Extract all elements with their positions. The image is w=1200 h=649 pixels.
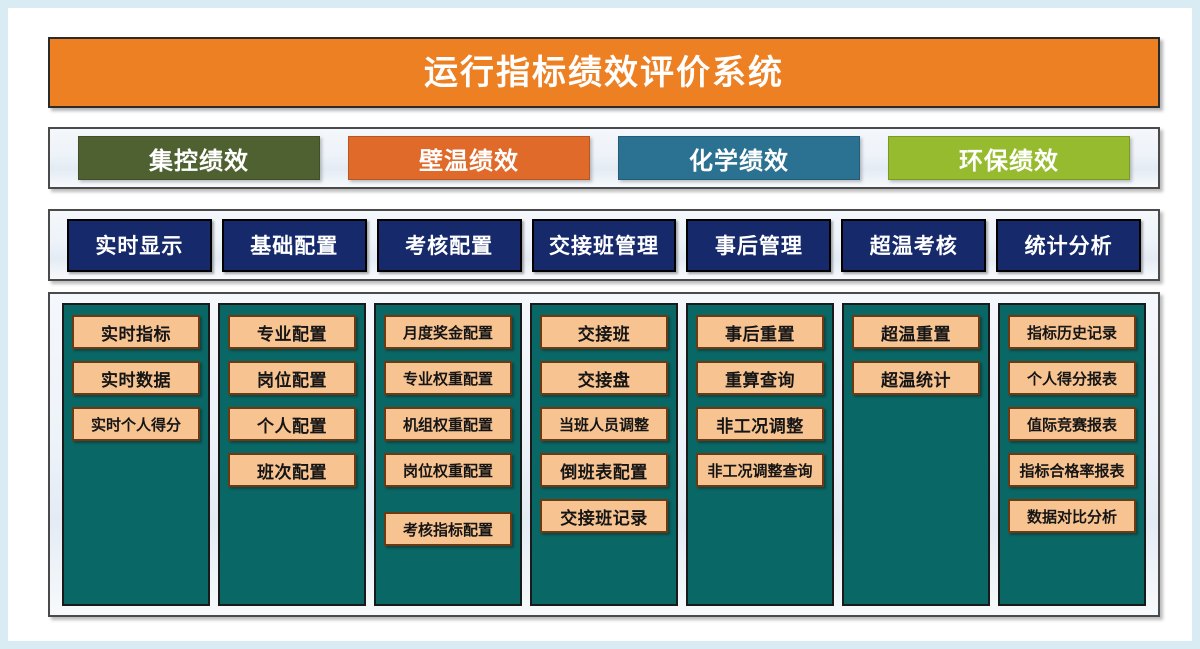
tab-label: 统计分析 bbox=[1025, 230, 1113, 260]
module-item[interactable]: 实时个人得分 bbox=[72, 407, 200, 441]
module-item[interactable]: 个人得分报表 bbox=[1008, 361, 1136, 395]
module-item[interactable]: 非工况调整查询 bbox=[696, 453, 824, 487]
module-item[interactable]: 个人配置 bbox=[228, 407, 356, 441]
module-column-5: 事后重置重算查询非工况调整非工况调整查询 bbox=[686, 303, 834, 606]
module-item[interactable]: 班次配置 bbox=[228, 453, 356, 487]
module-item-label: 实时数据 bbox=[101, 366, 171, 391]
category-bar: 集控绩效壁温绩效化学绩效环保绩效 bbox=[48, 127, 1160, 189]
module-item-label: 交接班 bbox=[578, 320, 631, 345]
module-column-6: 超温重置超温统计 bbox=[842, 303, 990, 606]
module-item-label: 班次配置 bbox=[257, 458, 327, 483]
category-button-label: 环保绩效 bbox=[959, 141, 1059, 176]
module-column-7: 指标历史记录个人得分报表值际竞赛报表指标合格率报表数据对比分析 bbox=[998, 303, 1146, 606]
module-item[interactable]: 实时数据 bbox=[72, 361, 200, 395]
module-item-label: 个人得分报表 bbox=[1027, 368, 1117, 389]
module-item[interactable]: 岗位权重配置 bbox=[384, 453, 512, 487]
module-item[interactable]: 岗位配置 bbox=[228, 361, 356, 395]
category-button-4[interactable]: 环保绩效 bbox=[888, 136, 1130, 180]
tab-3[interactable]: 考核配置 bbox=[377, 219, 522, 272]
module-item-label: 值际竞赛报表 bbox=[1027, 414, 1117, 435]
module-item[interactable]: 月度奖金配置 bbox=[384, 315, 512, 349]
module-item-label: 考核指标配置 bbox=[403, 519, 493, 540]
module-item[interactable]: 非工况调整 bbox=[696, 407, 824, 441]
module-item-label: 实时个人得分 bbox=[91, 414, 181, 435]
module-item-label: 岗位权重配置 bbox=[403, 460, 493, 481]
module-item-label: 实时指标 bbox=[101, 320, 171, 345]
module-item[interactable]: 指标合格率报表 bbox=[1008, 453, 1136, 487]
tab-label: 事后管理 bbox=[715, 230, 803, 260]
module-item-label: 超温重置 bbox=[881, 320, 951, 345]
module-item-label: 月度奖金配置 bbox=[403, 322, 493, 343]
module-item-label: 事后重置 bbox=[725, 320, 795, 345]
module-item[interactable]: 超温重置 bbox=[852, 315, 980, 349]
module-item-label: 个人配置 bbox=[257, 412, 327, 437]
module-item-label: 倒班表配置 bbox=[560, 458, 648, 483]
tab-label: 交接班管理 bbox=[549, 230, 659, 260]
category-button-3[interactable]: 化学绩效 bbox=[618, 136, 860, 180]
module-column-3: 月度奖金配置专业权重配置机组权重配置岗位权重配置考核指标配置 bbox=[374, 303, 522, 606]
module-item-label: 交接盘 bbox=[578, 366, 631, 391]
module-column-2: 专业配置岗位配置个人配置班次配置 bbox=[218, 303, 366, 606]
module-item[interactable]: 数据对比分析 bbox=[1008, 499, 1136, 533]
module-item[interactable]: 交接盘 bbox=[540, 361, 668, 395]
module-item-label: 非工况调整 bbox=[716, 412, 804, 437]
module-item-label: 重算查询 bbox=[725, 366, 795, 391]
module-item[interactable]: 交接班记录 bbox=[540, 499, 668, 533]
module-item-label: 当班人员调整 bbox=[559, 414, 649, 435]
tab-label: 实时显示 bbox=[95, 230, 183, 260]
module-grid: 实时指标实时数据实时个人得分专业配置岗位配置个人配置班次配置月度奖金配置专业权重… bbox=[48, 292, 1160, 617]
tab-1[interactable]: 实时显示 bbox=[67, 219, 212, 272]
tab-2[interactable]: 基础配置 bbox=[222, 219, 367, 272]
module-item[interactable]: 考核指标配置 bbox=[384, 512, 512, 546]
tab-7[interactable]: 统计分析 bbox=[996, 219, 1141, 272]
application-frame: 运行指标绩效评价系统 集控绩效壁温绩效化学绩效环保绩效 实时显示基础配置考核配置… bbox=[40, 29, 1168, 625]
tab-label: 超温考核 bbox=[870, 230, 958, 260]
module-item[interactable]: 重算查询 bbox=[696, 361, 824, 395]
app-title-bar: 运行指标绩效评价系统 bbox=[48, 37, 1160, 108]
category-button-1[interactable]: 集控绩效 bbox=[78, 136, 320, 180]
module-item-label: 超温统计 bbox=[881, 366, 951, 391]
module-item-label: 数据对比分析 bbox=[1027, 506, 1117, 527]
navigation-tab-bar: 实时显示基础配置考核配置交接班管理事后管理超温考核统计分析 bbox=[48, 209, 1160, 281]
module-item-label: 交接班记录 bbox=[560, 504, 648, 529]
module-item-label: 专业配置 bbox=[257, 320, 327, 345]
module-item-label: 岗位配置 bbox=[257, 366, 327, 391]
tab-6[interactable]: 超温考核 bbox=[841, 219, 986, 272]
tab-5[interactable]: 事后管理 bbox=[686, 219, 831, 272]
module-item[interactable]: 当班人员调整 bbox=[540, 407, 668, 441]
module-item[interactable]: 倒班表配置 bbox=[540, 453, 668, 487]
category-button-label: 集控绩效 bbox=[149, 141, 249, 176]
tab-label: 考核配置 bbox=[405, 230, 493, 260]
module-item-label: 专业权重配置 bbox=[403, 368, 493, 389]
module-item-label: 指标历史记录 bbox=[1027, 322, 1117, 343]
module-item[interactable]: 交接班 bbox=[540, 315, 668, 349]
tab-label: 基础配置 bbox=[250, 230, 338, 260]
module-column-1: 实时指标实时数据实时个人得分 bbox=[62, 303, 210, 606]
tab-4[interactable]: 交接班管理 bbox=[532, 219, 677, 272]
module-item[interactable]: 专业配置 bbox=[228, 315, 356, 349]
module-item-label: 机组权重配置 bbox=[403, 414, 493, 435]
category-button-2[interactable]: 壁温绩效 bbox=[348, 136, 590, 180]
module-item[interactable]: 机组权重配置 bbox=[384, 407, 512, 441]
module-column-4: 交接班交接盘当班人员调整倒班表配置交接班记录 bbox=[530, 303, 678, 606]
module-item[interactable]: 指标历史记录 bbox=[1008, 315, 1136, 349]
module-item[interactable]: 专业权重配置 bbox=[384, 361, 512, 395]
module-item[interactable]: 超温统计 bbox=[852, 361, 980, 395]
module-item-label: 非工况调整查询 bbox=[707, 460, 812, 481]
category-button-label: 壁温绩效 bbox=[419, 141, 519, 176]
module-item[interactable]: 事后重置 bbox=[696, 315, 824, 349]
page-title: 运行指标绩效评价系统 bbox=[424, 56, 784, 90]
module-item[interactable]: 值际竞赛报表 bbox=[1008, 407, 1136, 441]
application-window: 运行指标绩效评价系统 集控绩效壁温绩效化学绩效环保绩效 实时显示基础配置考核配置… bbox=[0, 0, 1200, 649]
module-item-label: 指标合格率报表 bbox=[1019, 460, 1124, 481]
category-button-label: 化学绩效 bbox=[689, 141, 789, 176]
module-item[interactable]: 实时指标 bbox=[72, 315, 200, 349]
